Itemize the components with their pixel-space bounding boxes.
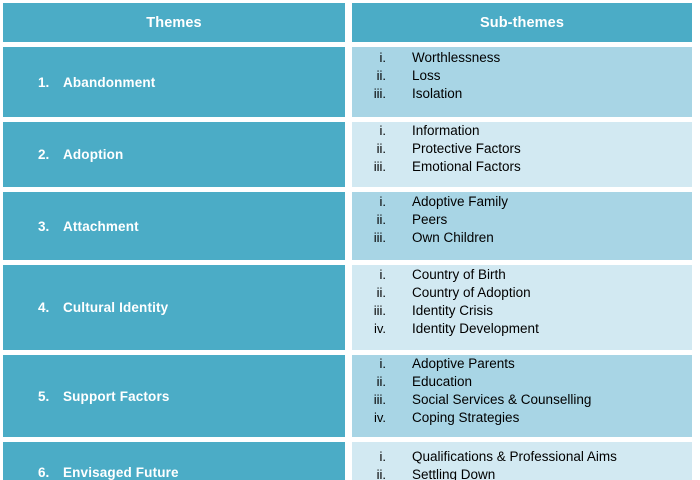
sub-theme-numeral: iii.	[352, 229, 386, 247]
sub-theme-item: ii.Education	[352, 373, 692, 391]
table-row: 1.Abandonmenti.Worthlessnessii.Lossiii.I…	[3, 47, 692, 117]
sub-theme-numeral: i.	[352, 193, 386, 211]
sub-themes-cell: i.Informationii.Protective Factorsiii.Em…	[352, 122, 692, 187]
sub-theme-label: Information	[386, 122, 480, 140]
sub-theme-item: i.Information	[352, 122, 692, 140]
column-header-sub-themes: Sub-themes	[352, 3, 692, 42]
sub-theme-label: Loss	[386, 67, 441, 85]
sub-theme-item: iii.Emotional Factors	[352, 158, 692, 176]
sub-theme-item: iii.Isolation	[352, 85, 692, 103]
sub-themes-cell: i.Qualifications & Professional Aimsii.S…	[352, 442, 692, 480]
sub-theme-numeral: iii.	[352, 85, 386, 103]
theme-number: 2.	[38, 147, 63, 162]
sub-themes-list: i.Adoptive Familyii.Peersiii.Own Childre…	[352, 192, 692, 247]
theme-cell: 2.Adoption	[3, 122, 345, 187]
theme-label: Cultural Identity	[63, 300, 168, 315]
table-header: Themes Sub-themes	[3, 3, 692, 42]
sub-theme-item: iii.Own Children	[352, 229, 692, 247]
table-row: 5.Support Factorsi.Adoptive Parentsii.Ed…	[3, 355, 692, 437]
sub-theme-item: ii.Protective Factors	[352, 140, 692, 158]
sub-theme-item: i.Adoptive Parents	[352, 355, 692, 373]
sub-theme-item: ii.Loss	[352, 67, 692, 85]
table-row: 4.Cultural Identityi.Country of Birthii.…	[3, 265, 692, 350]
sub-theme-numeral: iii.	[352, 158, 386, 176]
column-gutter	[345, 47, 352, 117]
sub-theme-item: iv.Identity Development	[352, 320, 692, 338]
sub-theme-item: i.Country of Birth	[352, 266, 692, 284]
sub-theme-item: ii.Settling Down	[352, 466, 692, 480]
sub-theme-label: Qualifications & Professional Aims	[386, 448, 617, 466]
sub-theme-label: Adoptive Parents	[386, 355, 515, 373]
table-row: 6.Envisaged Futurei.Qualifications & Pro…	[3, 442, 692, 480]
table-row: 3.Attachmenti.Adoptive Familyii.Peersiii…	[3, 192, 692, 260]
sub-theme-numeral: i.	[352, 448, 386, 466]
sub-theme-numeral: ii.	[352, 211, 386, 229]
sub-theme-label: Identity Development	[386, 320, 539, 338]
sub-theme-numeral: ii.	[352, 140, 386, 158]
sub-theme-item: iv.Coping Strategies	[352, 409, 692, 427]
table-row: 2.Adoptioni.Informationii.Protective Fac…	[3, 122, 692, 187]
column-gutter	[345, 355, 352, 437]
sub-theme-item: iii.Social Services & Counselling	[352, 391, 692, 409]
theme-content: 3.Attachment	[3, 219, 345, 234]
theme-label: Attachment	[63, 219, 139, 234]
sub-theme-label: Settling Down	[386, 466, 495, 480]
sub-themes-list: i.Informationii.Protective Factorsiii.Em…	[352, 122, 692, 176]
sub-theme-numeral: ii.	[352, 466, 386, 480]
theme-content: 6.Envisaged Future	[3, 465, 345, 480]
sub-themes-cell: i.Adoptive Familyii.Peersiii.Own Childre…	[352, 192, 692, 260]
themes-subthemes-table: Themes Sub-themes 1.Abandonmenti.Worthle…	[3, 3, 692, 480]
sub-themes-cell: i.Adoptive Parentsii.Educationiii.Social…	[352, 355, 692, 437]
theme-content: 2.Adoption	[3, 147, 345, 162]
sub-theme-label: Education	[386, 373, 472, 391]
theme-number: 5.	[38, 389, 63, 404]
sub-theme-label: Country of Adoption	[386, 284, 531, 302]
column-gutter	[345, 442, 352, 480]
theme-label: Adoption	[63, 147, 123, 162]
theme-cell: 4.Cultural Identity	[3, 265, 345, 350]
theme-content: 4.Cultural Identity	[3, 300, 345, 315]
theme-content: 5.Support Factors	[3, 389, 345, 404]
column-gutter	[345, 122, 352, 187]
thematic-table-container: Themes Sub-themes 1.Abandonmenti.Worthle…	[0, 0, 700, 480]
theme-number: 1.	[38, 75, 63, 90]
column-header-themes: Themes	[3, 3, 345, 42]
theme-cell: 5.Support Factors	[3, 355, 345, 437]
sub-theme-label: Country of Birth	[386, 266, 506, 284]
sub-theme-numeral: ii.	[352, 67, 386, 85]
sub-themes-list: i.Adoptive Parentsii.Educationiii.Social…	[352, 355, 692, 427]
sub-theme-numeral: i.	[352, 355, 386, 373]
sub-theme-label: Social Services & Counselling	[386, 391, 591, 409]
sub-theme-label: Emotional Factors	[386, 158, 521, 176]
sub-themes-cell: i.Country of Birthii.Country of Adoption…	[352, 265, 692, 350]
sub-themes-list: i.Country of Birthii.Country of Adoption…	[352, 265, 692, 338]
sub-theme-label: Isolation	[386, 85, 462, 103]
sub-theme-numeral: i.	[352, 122, 386, 140]
sub-theme-item: i.Worthlessness	[352, 49, 692, 67]
theme-label: Support Factors	[63, 389, 170, 404]
sub-themes-list: i.Worthlessnessii.Lossiii.Isolation	[352, 47, 692, 103]
sub-theme-numeral: i.	[352, 266, 386, 284]
sub-theme-label: Worthlessness	[386, 49, 500, 67]
theme-cell: 6.Envisaged Future	[3, 442, 345, 480]
sub-theme-numeral: i.	[352, 49, 386, 67]
theme-number: 3.	[38, 219, 63, 234]
sub-theme-label: Adoptive Family	[386, 193, 508, 211]
theme-cell: 1.Abandonment	[3, 47, 345, 117]
sub-theme-item: i.Adoptive Family	[352, 193, 692, 211]
theme-content: 1.Abandonment	[3, 75, 345, 90]
column-gutter	[345, 265, 352, 350]
sub-theme-label: Own Children	[386, 229, 494, 247]
table-header-row: Themes Sub-themes	[3, 3, 692, 42]
theme-cell: 3.Attachment	[3, 192, 345, 260]
sub-theme-label: Coping Strategies	[386, 409, 519, 427]
sub-theme-label: Protective Factors	[386, 140, 521, 158]
theme-number: 4.	[38, 300, 63, 315]
sub-themes-list: i.Qualifications & Professional Aimsii.S…	[352, 442, 692, 480]
sub-theme-numeral: ii.	[352, 373, 386, 391]
table-body: 1.Abandonmenti.Worthlessnessii.Lossiii.I…	[3, 42, 692, 480]
sub-theme-numeral: iv.	[352, 409, 386, 427]
column-gutter	[345, 192, 352, 260]
theme-label: Abandonment	[63, 75, 155, 90]
sub-theme-item: i.Qualifications & Professional Aims	[352, 448, 692, 466]
theme-label: Envisaged Future	[63, 465, 179, 480]
sub-theme-numeral: ii.	[352, 284, 386, 302]
sub-theme-numeral: iii.	[352, 302, 386, 320]
sub-theme-item: ii.Peers	[352, 211, 692, 229]
theme-number: 6.	[38, 465, 63, 480]
sub-theme-numeral: iii.	[352, 391, 386, 409]
sub-theme-label: Identity Crisis	[386, 302, 493, 320]
sub-themes-cell: i.Worthlessnessii.Lossiii.Isolation	[352, 47, 692, 117]
sub-theme-item: ii.Country of Adoption	[352, 284, 692, 302]
header-column-gutter	[345, 3, 352, 42]
sub-theme-item: iii.Identity Crisis	[352, 302, 692, 320]
sub-theme-numeral: iv.	[352, 320, 386, 338]
sub-theme-label: Peers	[386, 211, 447, 229]
